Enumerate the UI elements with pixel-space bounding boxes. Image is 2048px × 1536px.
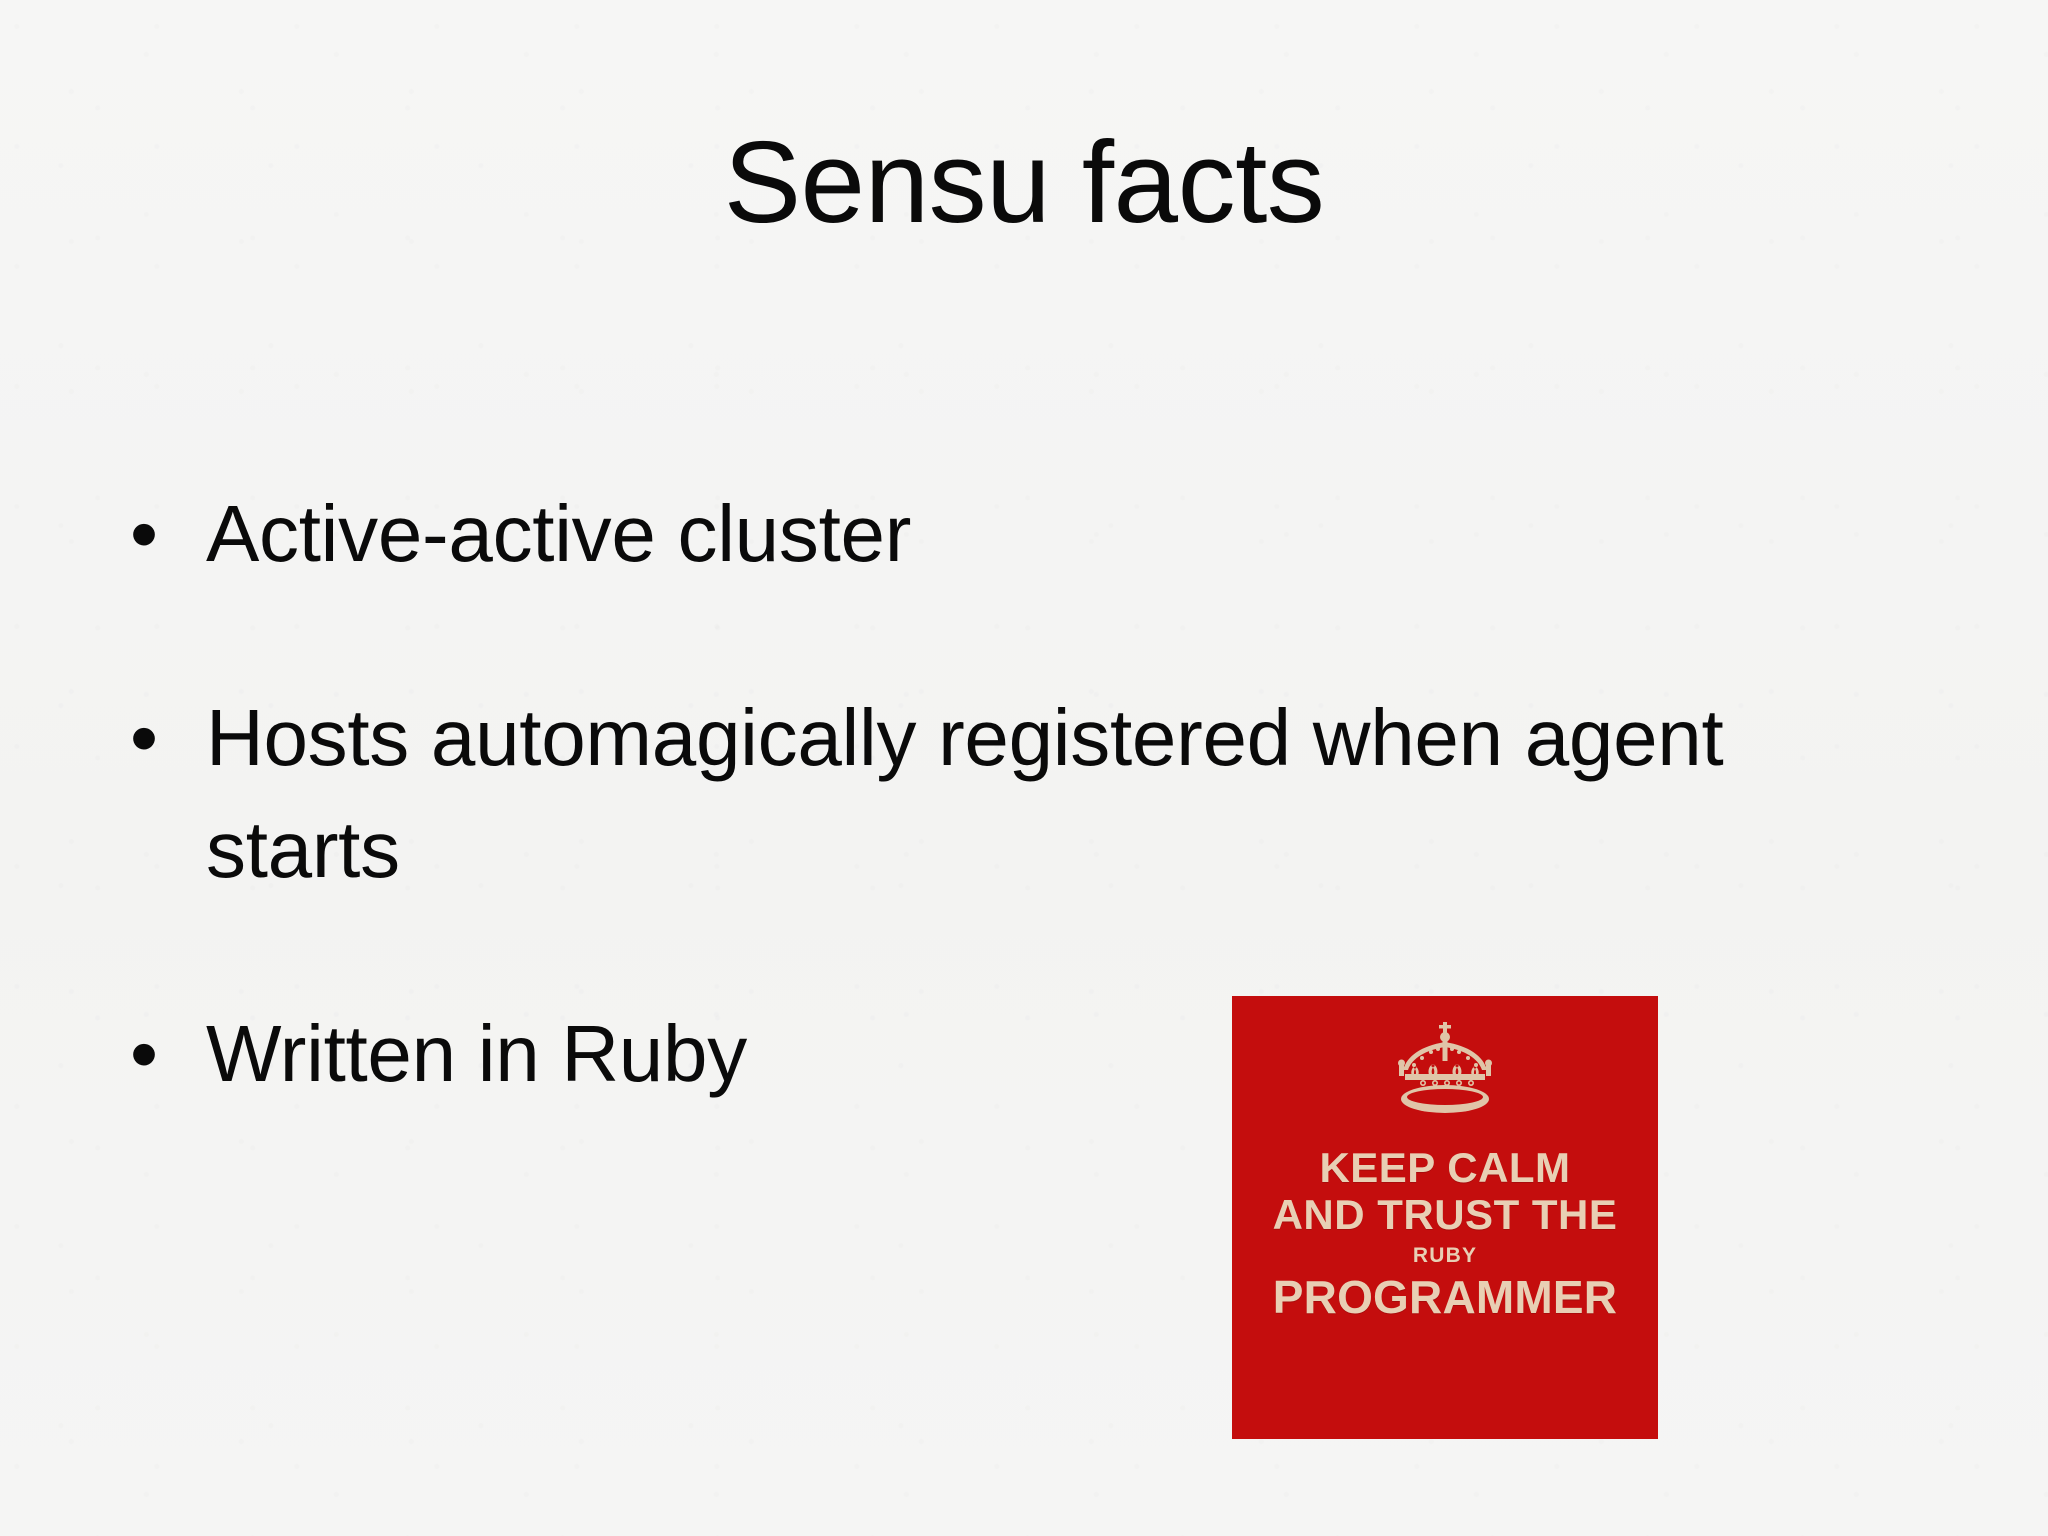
poster-line-programmer: PROGRAMMER [1232, 1272, 1658, 1324]
list-item-label: Hosts automagically registered when agen… [206, 682, 1776, 906]
poster-text-block: KEEP CALM AND TRUST THE RUBY PROGRAMMER [1232, 1144, 1658, 1324]
poster-line-keep-calm: KEEP CALM [1232, 1144, 1658, 1191]
presentation-slide: Sensu facts • Active-active cluster • Ho… [0, 0, 2048, 1536]
list-item: • Active-active cluster [120, 478, 1800, 590]
page-title: Sensu facts [0, 118, 2048, 248]
list-item-label: Active-active cluster [206, 478, 1776, 590]
list-item: • Hosts automagically registered when ag… [120, 682, 1800, 906]
keep-calm-poster-image: KEEP CALM AND TRUST THE RUBY PROGRAMMER [1232, 996, 1658, 1439]
bullet-point-icon: • [120, 998, 206, 1110]
poster-line-and-trust-the: AND TRUST THE [1232, 1191, 1658, 1238]
poster-line-ruby: RUBY [1232, 1242, 1658, 1270]
bullet-point-icon: • [120, 478, 206, 590]
bullet-point-icon: • [120, 682, 206, 794]
crown-icon [1381, 1020, 1509, 1124]
